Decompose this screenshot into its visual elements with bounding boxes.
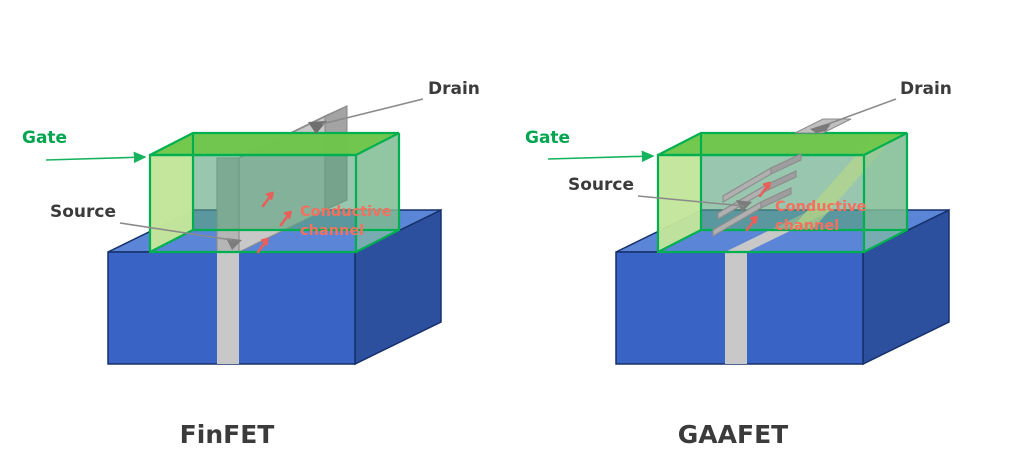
gaafet-drain-leader [828, 99, 896, 124]
finfet-gate-label: Gate [22, 128, 67, 148]
figure-root: Gate Source Drain Conductive channel Fin… [0, 0, 1024, 476]
transistor-comparison-diagram: Gate Source Drain Conductive channel Fin… [0, 0, 1024, 476]
finfet-diagram: Gate Source Drain Conductive channel Fin… [22, 79, 480, 449]
finfet-drain-label: Drain [428, 79, 480, 99]
gaafet-channel-label-line1: Conductive [775, 199, 867, 215]
finfet-source-label: Source [50, 202, 116, 222]
gaafet-caption: GAAFET [678, 420, 788, 449]
finfet-fin-front-slot [217, 252, 239, 364]
gaafet-gate-label: Gate [525, 128, 570, 148]
finfet-channel-label-line2: channel [300, 223, 364, 239]
finfet-caption: FinFET [180, 420, 275, 449]
finfet-gate-leader [46, 157, 145, 160]
gaafet-source-label: Source [568, 175, 634, 195]
finfet-channel-label-line1: Conductive [300, 204, 392, 220]
gaafet-drain-contact-tab [795, 119, 851, 133]
gaafet-gate-leader [548, 156, 653, 159]
gaafet-drain-label: Drain [900, 79, 952, 99]
gaafet-channel-front-slot [725, 252, 747, 364]
gaafet-diagram: Gate Source Drain Conductive channel GAA… [525, 79, 952, 449]
gaafet-channel-label-line2: channel [775, 218, 839, 234]
